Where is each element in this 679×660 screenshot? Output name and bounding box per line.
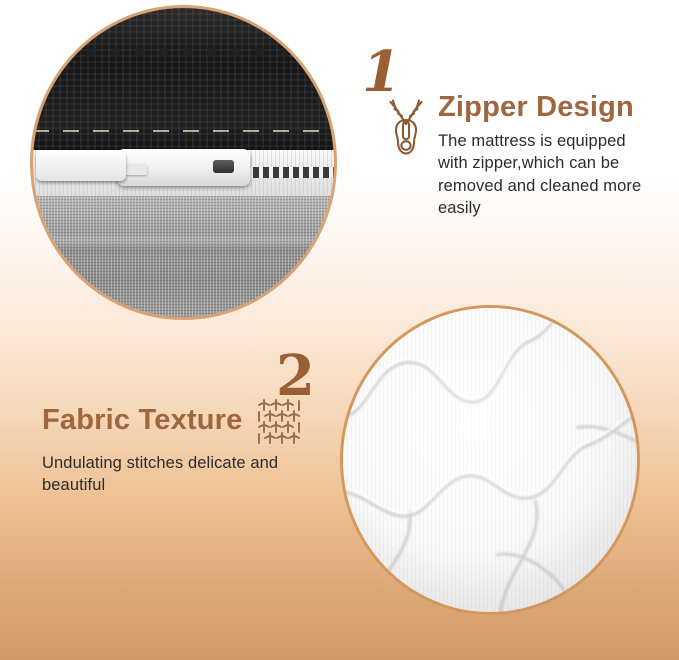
zipper-photo-content xyxy=(33,8,334,317)
feature-heading-fabric: Fabric Texture xyxy=(42,405,243,437)
feature-heading-zipper: Zipper Design xyxy=(438,92,666,124)
fabric-photo-content xyxy=(343,308,637,612)
zipper-pull-tab xyxy=(36,150,126,181)
feature-block-zipper: Zipper Design The mattress is equipped w… xyxy=(386,92,666,220)
fabric-stitch-icon xyxy=(257,398,301,444)
feature-number-2: 2 xyxy=(276,348,314,404)
zipper-icon xyxy=(386,92,428,160)
black-quilted-band xyxy=(30,8,337,159)
zipper-slider-notch xyxy=(213,160,234,173)
mesh-fold-highlight xyxy=(30,237,337,253)
scalloped-edge xyxy=(30,48,337,57)
zipper-closeup-photo xyxy=(30,5,337,320)
fabric-heading-row: Fabric Texture xyxy=(42,398,312,444)
dashed-stitch-line xyxy=(33,130,334,132)
infographic-poster: 1 Zipper xyxy=(0,0,679,660)
feature-block-fabric: Fabric Texture xyxy=(42,398,312,497)
fabric-shading xyxy=(343,308,637,612)
feature-body-zipper: The mattress is equipped with zipper,whi… xyxy=(438,130,648,220)
fabric-texture-photo xyxy=(340,305,640,615)
feature-body-fabric: Undulating stitches delicate and beautif… xyxy=(42,452,312,497)
grey-mesh-panel xyxy=(30,193,337,320)
zipper-text-group: Zipper Design The mattress is equipped w… xyxy=(438,92,666,220)
